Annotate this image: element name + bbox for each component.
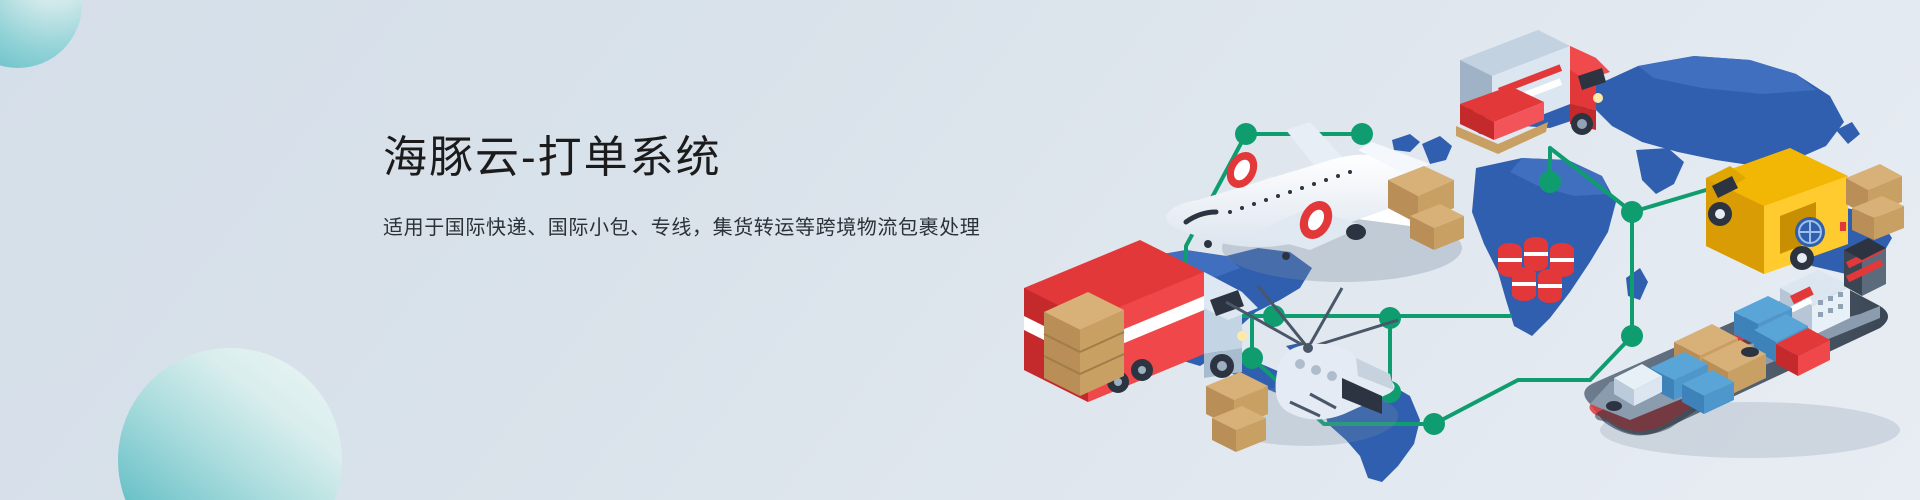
route-node	[1423, 413, 1445, 435]
hero-text-block: 海豚云-打单系统 适用于国际快递、国际小包、专线，集货转运等跨境物流包裹处理	[383, 128, 980, 240]
page-title: 海豚云-打单系统	[383, 128, 980, 187]
continent-iceland	[1392, 134, 1420, 152]
hero-illustration	[990, 0, 1920, 500]
route-node	[1621, 325, 1643, 347]
hero-banner: 海豚云-打单系统 适用于国际快递、国际小包、专线，集货转运等跨境物流包裹处理	[0, 0, 1920, 500]
route-node	[1235, 123, 1257, 145]
cargo-box-icon	[1206, 372, 1268, 452]
route-node	[1241, 347, 1263, 369]
route-line-southeast	[1434, 380, 1590, 424]
decorative-circle-top-left	[0, 0, 82, 68]
continent-india	[1636, 148, 1684, 194]
route-node	[1621, 201, 1643, 223]
page-subtitle: 适用于国际快递、国际小包、专线，集货转运等跨境物流包裹处理	[383, 211, 980, 240]
continent-uk	[1422, 136, 1452, 164]
route-node	[1351, 123, 1373, 145]
decorative-circle-bottom-left	[118, 348, 342, 500]
route-node	[1539, 171, 1561, 193]
island-madagascar	[1626, 268, 1648, 300]
